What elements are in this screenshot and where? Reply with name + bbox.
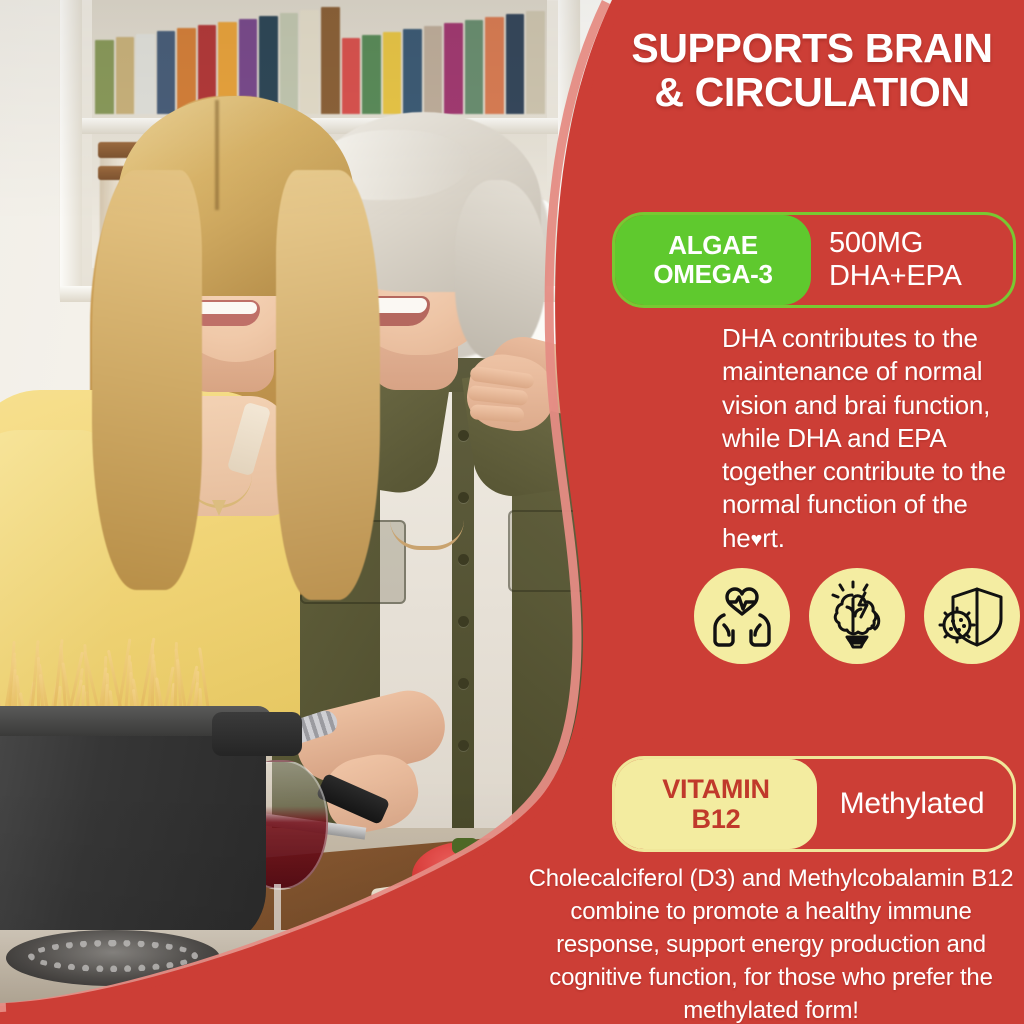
- omega-name-line-2: OMEGA-3: [653, 260, 772, 289]
- omega-name-line-1: ALGAE: [668, 231, 758, 260]
- algae-omega-3-dose: 500MG DHA+EPA: [811, 215, 1013, 305]
- omega-description-text-end: rt.: [762, 523, 785, 553]
- panel-content: SUPPORTS BRAIN & CIRCULATION ALGAE OMEGA…: [0, 0, 1024, 1024]
- hands-holding-heart-glyph: [705, 579, 779, 653]
- b12-name-line-2: B12: [692, 804, 741, 834]
- headline: SUPPORTS BRAIN & CIRCULATION: [604, 26, 1020, 115]
- brain-energy-icon: [809, 568, 905, 664]
- virus-shield-glyph: [935, 579, 1009, 653]
- omega-description-text: DHA contributes to the maintenance of no…: [722, 323, 1006, 553]
- omega-description: DHA contributes to the maintenance of no…: [722, 322, 1018, 555]
- omega-dose-line-2: DHA+EPA: [829, 260, 962, 293]
- benefit-icon-row: [694, 566, 1020, 666]
- vitamin-b12-badge: VITAMIN B12 Methylated: [612, 756, 1016, 852]
- headline-line-1: SUPPORTS BRAIN: [604, 26, 1020, 70]
- omega-dose-line-1: 500MG: [829, 227, 923, 260]
- vitamin-b12-name: VITAMIN B12: [615, 759, 817, 849]
- headline-line-2: & CIRCULATION: [604, 70, 1020, 114]
- heart-icon: ♥: [751, 529, 763, 551]
- brain-energy-glyph: [820, 579, 894, 653]
- vitamin-b12-form: Methylated: [817, 759, 1013, 849]
- virus-shield-icon: [924, 568, 1020, 664]
- algae-omega-3-name: ALGAE OMEGA-3: [615, 215, 811, 305]
- algae-omega-3-badge: ALGAE OMEGA-3 500MG DHA+EPA: [612, 212, 1016, 308]
- b12-description: Cholecalciferol (D3) and Methylcobalamin…: [520, 862, 1022, 1024]
- product-marketing-banner: SUPPORTS BRAIN & CIRCULATION ALGAE OMEGA…: [0, 0, 1024, 1024]
- hands-holding-heart-icon: [694, 568, 790, 664]
- b12-name-line-1: VITAMIN: [662, 774, 770, 804]
